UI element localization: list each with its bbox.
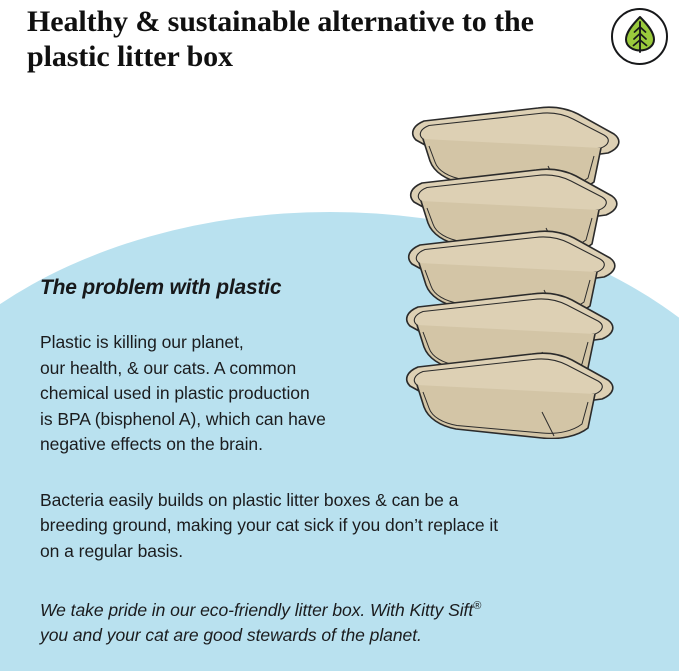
closing-text-lead: We take pride in our eco-friendly litter… bbox=[40, 600, 473, 620]
copy-block: The problem with plastic Plastic is kill… bbox=[40, 276, 600, 649]
paragraph-closing: We take pride in our eco-friendly litter… bbox=[40, 594, 600, 649]
page-title: Healthy & sustainable alternative to the… bbox=[27, 4, 567, 74]
paragraph-problem: Plastic is killing our planet, our healt… bbox=[40, 330, 600, 458]
closing-text-tail: you and your cat are good stewards of th… bbox=[40, 625, 422, 645]
registered-mark: ® bbox=[473, 600, 481, 612]
eco-badge bbox=[611, 8, 668, 65]
leaf-icon bbox=[623, 14, 657, 59]
paragraph-bacteria: Bacteria easily builds on plastic litter… bbox=[40, 488, 600, 565]
section-title: The problem with plastic bbox=[40, 276, 600, 300]
promo-banner: Healthy & sustainable alternative to the… bbox=[0, 0, 679, 671]
